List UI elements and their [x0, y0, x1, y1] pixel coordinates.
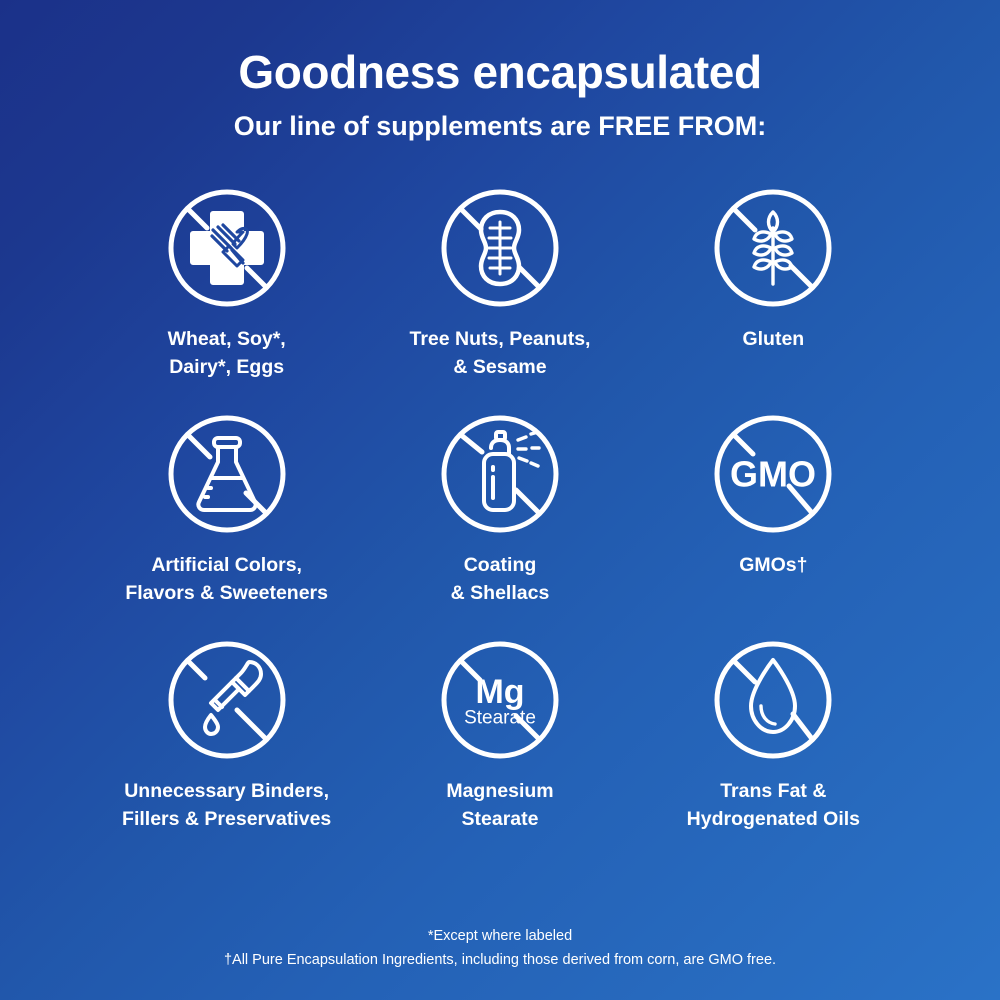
- poster-header: Goodness encapsulated Our line of supple…: [0, 0, 1000, 142]
- stearate-inner-text: Stearate: [464, 707, 536, 728]
- no-wheat-stalk-icon: [709, 184, 837, 312]
- free-from-item-nuts: Tree Nuts, Peanuts, & Sesame: [363, 184, 636, 410]
- footnote-dagger: †All Pure Encapsulation Ingredients, inc…: [0, 949, 1000, 972]
- free-from-item-label: Tree Nuts, Peanuts, & Sesame: [410, 326, 591, 381]
- free-from-poster: Goodness encapsulated Our line of supple…: [0, 0, 1000, 1000]
- free-from-grid: Wheat, Soy*, Dairy*, Eggs Tree Nuts, Pea…: [90, 184, 910, 862]
- free-from-item-binders: Unnecessary Binders, Fillers & Preservat…: [90, 636, 363, 862]
- no-magnesium-stearate-icon: Mg Stearate: [436, 636, 564, 764]
- footnotes: *Except where labeled †All Pure Encapsul…: [0, 925, 1000, 972]
- no-spray-can-icon: [436, 410, 564, 538]
- free-from-item-label: Wheat, Soy*, Dairy*, Eggs: [168, 326, 286, 381]
- page-subtitle: Our line of supplements are FREE FROM:: [0, 112, 1000, 142]
- free-from-item-label: Unnecessary Binders, Fillers & Preservat…: [122, 778, 331, 833]
- free-from-item-artificial-colors: Artificial Colors, Flavors & Sweeteners: [90, 410, 363, 636]
- page-title: Goodness encapsulated: [0, 48, 1000, 96]
- free-from-item-label: Coating & Shellacs: [451, 552, 550, 607]
- no-gmo-icon: GMO: [709, 410, 837, 538]
- free-from-item-magnesium-stearate: Mg Stearate Magnesium Stearate: [363, 636, 636, 862]
- free-from-item-label: Artificial Colors, Flavors & Sweeteners: [125, 552, 328, 607]
- gmo-inner-text: GMO: [730, 453, 816, 494]
- no-erlenmeyer-flask-icon: [163, 410, 291, 538]
- no-allergen-cross-fork-knife-icon: [163, 184, 291, 312]
- free-from-item-allergens: Wheat, Soy*, Dairy*, Eggs: [90, 184, 363, 410]
- footnote-asterisk: *Except where labeled: [0, 925, 1000, 948]
- no-dropper-pipette-icon: [163, 636, 291, 764]
- free-from-item-label: Trans Fat & Hydrogenated Oils: [687, 778, 860, 833]
- free-from-item-gmo: GMO GMOs†: [637, 410, 910, 636]
- free-from-item-gluten: Gluten: [637, 184, 910, 410]
- free-from-item-label: Gluten: [742, 326, 804, 354]
- free-from-item-label: GMOs†: [739, 552, 807, 580]
- free-from-item-label: Magnesium Stearate: [446, 778, 553, 833]
- no-peanut-icon: [436, 184, 564, 312]
- free-from-item-trans-fat: Trans Fat & Hydrogenated Oils: [637, 636, 910, 862]
- no-oil-droplet-icon: [709, 636, 837, 764]
- free-from-item-coating: Coating & Shellacs: [363, 410, 636, 636]
- mg-inner-text: Mg: [475, 673, 524, 711]
